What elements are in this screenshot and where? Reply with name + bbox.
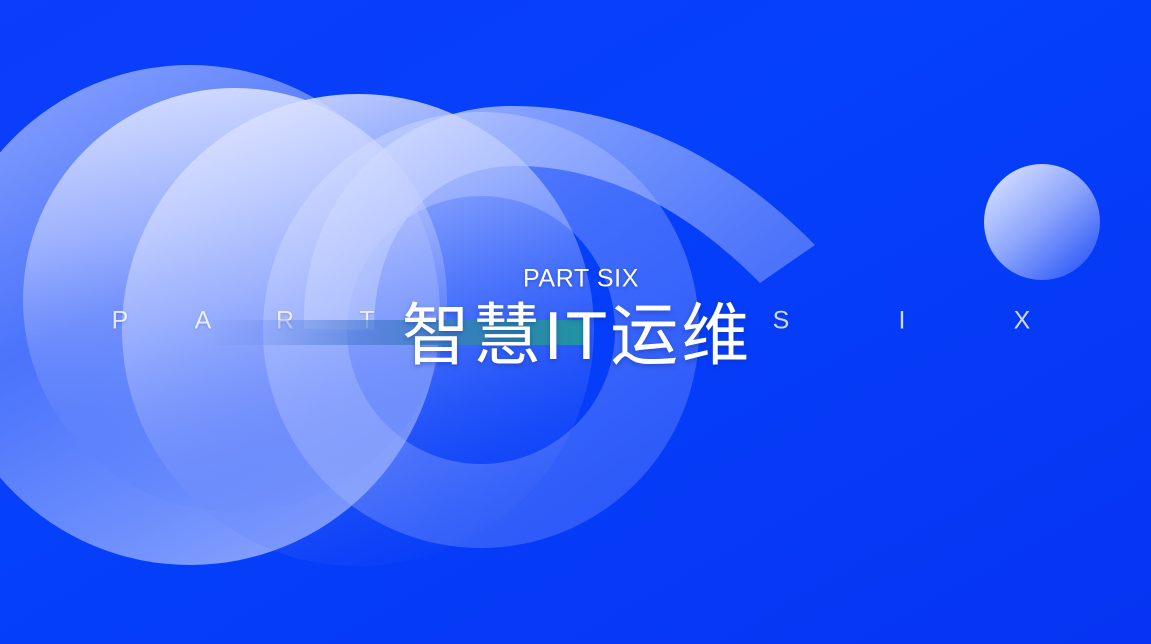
small-sphere-right: [984, 164, 1100, 280]
background-decoration: [0, 0, 1151, 644]
slide-canvas: P A R T S I X PART SIX 智慧IT运维: [0, 0, 1151, 644]
